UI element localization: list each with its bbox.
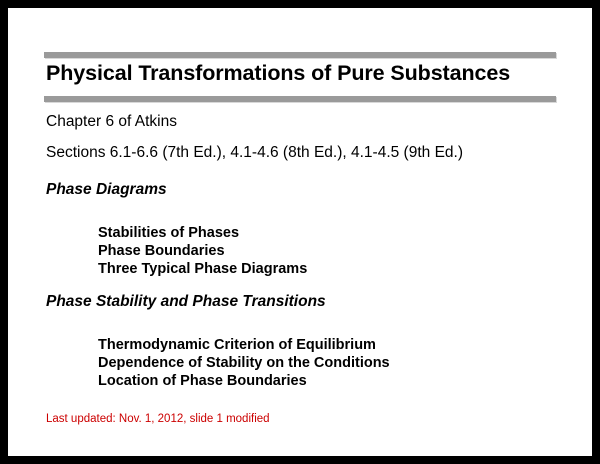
list-item: Thermodynamic Criterion of Equilibrium: [98, 337, 376, 353]
list-item: Stabilities of Phases: [98, 225, 239, 241]
slide-canvas: Physical Transformations of Pure Substan…: [8, 8, 592, 456]
last-updated-note: Last updated: Nov. 1, 2012, slide 1 modi…: [46, 413, 270, 425]
section-heading-phase-diagrams: Phase Diagrams: [46, 181, 167, 199]
list-item: Phase Boundaries: [98, 243, 225, 259]
title-top-rule: [44, 52, 556, 58]
list-item: Dependence of Stability on the Condition…: [98, 355, 390, 371]
sections-line: Sections 6.1-6.6 (7th Ed.), 4.1-4.6 (8th…: [46, 144, 463, 162]
list-item: Location of Phase Boundaries: [98, 373, 307, 389]
section-heading-phase-stability: Phase Stability and Phase Transitions: [46, 293, 326, 311]
page-title: Physical Transformations of Pure Substan…: [46, 61, 510, 86]
chapter-line: Chapter 6 of Atkins: [46, 113, 177, 131]
list-item: Three Typical Phase Diagrams: [98, 261, 307, 277]
title-bottom-rule: [44, 96, 556, 102]
